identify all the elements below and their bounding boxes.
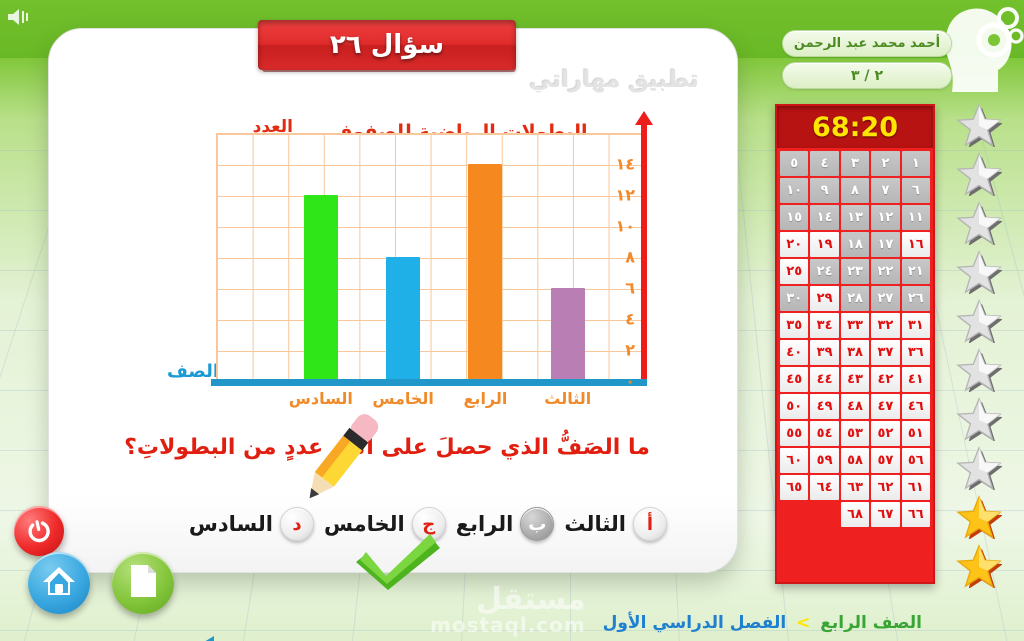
question-nav-cell[interactable]: ٦٧ [871,502,899,527]
star-gold-icon [956,495,1002,539]
question-nav-cell[interactable]: ٦٣ [841,475,869,500]
bar-chart: البطولات الرياضية للصفوف العدد الصف ٠٢٤٦… [159,117,719,417]
star-silver-icon [956,152,1002,196]
chart-bar [551,288,585,381]
speaker-mute-icon[interactable] [6,6,32,28]
star-slot [948,492,1010,541]
app-subtitle: تطبيق مهاراتي [529,67,699,93]
chart-y-tick-label: ٠ [625,372,635,391]
chart-x-axis-line [211,379,647,386]
option-label: السادس [189,512,273,536]
answer-option[interactable]: بالرابع [456,507,555,541]
question-nav-cell[interactable]: ٦ [902,178,930,203]
chart-y-tick-label: ١٤ [615,155,635,174]
question-navigator: 68:20 ١٢٣٤٥٦٧٨٩١٠١١١٢١٣١٤١٥١٦١٧١٨١٩٢٠٢١٢… [775,104,935,584]
question-nav-cell[interactable]: ٦٨ [841,502,869,527]
question-nav-cell[interactable]: ٤٢ [871,367,899,392]
question-nav-cell[interactable]: ٥٤ [810,421,838,446]
question-number-grid: ١٢٣٤٥٦٧٨٩١٠١١١٢١٣١٤١٥١٦١٧١٨١٩٢٠٢١٢٢٢٣٢٤٢… [777,148,933,530]
question-nav-cell[interactable]: ٢١ [902,259,930,284]
question-nav-cell-empty [780,502,808,527]
question-nav-cell[interactable]: ٣٤ [810,313,838,338]
star-slot [948,100,1010,149]
question-nav-cell[interactable]: ١١ [902,205,930,230]
question-number-label: سؤال ٢٦ [330,30,444,60]
star-silver-icon [956,299,1002,343]
chart-y-tick-label: ٨ [625,248,635,267]
question-nav-cell[interactable]: ٢٢ [871,259,899,284]
option-badge[interactable]: أ [633,507,667,541]
breadcrumb[interactable]: الصف الرابع > الفصل الدراسي الأول [603,613,922,633]
question-nav-cell[interactable]: ٥٨ [841,448,869,473]
star-slot [948,247,1010,296]
question-nav-cell[interactable]: ٤٧ [871,394,899,419]
chart-plot-area [216,133,644,381]
question-nav-cell[interactable]: ٥٣ [841,421,869,446]
chart-y-tick-label: ١٢ [615,186,635,205]
star-silver-icon [956,201,1002,245]
question-nav-cell[interactable]: ٣٨ [841,340,869,365]
question-nav-cell[interactable]: ١٣ [841,205,869,230]
star-gold-icon [956,544,1002,588]
question-nav-cell[interactable]: ١٧ [871,232,899,257]
student-score: ٢ / ٣ [782,62,952,89]
chart-y-axis-arrow [635,111,653,125]
chart-category-label: السادس [289,389,353,408]
question-nav-cell[interactable]: ٥ [780,151,808,176]
question-nav-cell[interactable]: ٣٠ [780,286,808,311]
question-nav-cell[interactable]: ٣ [841,151,869,176]
document-button[interactable] [112,552,174,614]
chart-category-label: الثالث [544,389,591,408]
star-slot [948,394,1010,443]
breadcrumb-term[interactable]: الفصل الدراسي الأول [603,613,787,633]
answer-option[interactable]: دالسادس [189,507,314,541]
question-nav-cell[interactable]: ٦٦ [902,502,930,527]
question-nav-cell[interactable]: ٢٨ [841,286,869,311]
question-nav-cell[interactable]: ١٨ [841,232,869,257]
question-nav-cell-empty [810,502,838,527]
question-nav-cell[interactable]: ٤٩ [810,394,838,419]
chart-category-label: الرابع [464,389,508,408]
question-nav-cell[interactable]: ١ [902,151,930,176]
question-nav-cell[interactable]: ٦٢ [871,475,899,500]
question-nav-cell[interactable]: ١٢ [871,205,899,230]
star-slot [948,198,1010,247]
star-silver-icon [956,397,1002,441]
star-slot [948,345,1010,394]
timer-display: 68:20 [777,106,933,148]
question-nav-cell[interactable]: ٥٢ [871,421,899,446]
watermark-arabic: مستقل [476,582,586,617]
star-silver-icon [956,348,1002,392]
question-nav-cell[interactable]: ٤٣ [841,367,869,392]
document-icon [128,564,158,602]
answer-option[interactable]: أالثالث [564,507,667,541]
question-nav-cell[interactable]: ٥٧ [871,448,899,473]
watermark-domain: mostaql.com [430,613,586,637]
question-nav-cell[interactable]: ٦٥ [780,475,808,500]
breadcrumb-separator: > [796,613,810,633]
question-nav-cell[interactable]: ٥٥ [780,421,808,446]
question-nav-cell[interactable]: ٥٦ [902,448,930,473]
watermark: مستقل mostaql.com [430,582,586,637]
question-nav-cell[interactable]: ٣٩ [810,340,838,365]
star-slot [948,541,1010,590]
option-label: الخامس [324,512,405,536]
star-silver-icon [956,103,1002,147]
student-info: أحمد محمد عبد الرحمن ٢ / ٣ [782,30,952,94]
question-nav-cell[interactable]: ٥٩ [810,448,838,473]
chart-y-tick-label: ١٠ [615,217,635,236]
question-nav-cell[interactable]: ٣٥ [780,313,808,338]
question-nav-cell[interactable]: ٩ [810,178,838,203]
question-banner: سؤال ٢٦ [258,20,520,72]
question-nav-cell[interactable]: ٤ [810,151,838,176]
star-slot [948,296,1010,345]
option-label: الثالث [564,512,626,536]
question-nav-cell[interactable]: ٢٦ [902,286,930,311]
question-nav-cell[interactable]: ٤١ [902,367,930,392]
home-icon [42,565,76,601]
question-nav-cell[interactable]: ٢ [871,151,899,176]
question-nav-cell[interactable]: ٣١ [902,313,930,338]
option-badge[interactable]: د [280,507,314,541]
confirm-answer-button[interactable] [352,534,444,590]
question-nav-cell[interactable]: ٧ [871,178,899,203]
question-nav-cell[interactable]: ١٤ [810,205,838,230]
chart-bar [304,195,338,381]
question-text: ما الصَفُّ الذي حصلَ على أكبرِ عددٍ من ا… [97,435,677,460]
option-badge[interactable]: ب [520,507,554,541]
question-nav-cell[interactable]: ٣٢ [871,313,899,338]
question-nav-cell[interactable]: ١٦ [902,232,930,257]
chart-y-axis-line [641,123,647,385]
question-nav-cell[interactable]: ٤٤ [810,367,838,392]
question-nav-cell[interactable]: ٦٠ [780,448,808,473]
main-content-panel: تطبيق مهاراتي البطولات الرياضية للصفوف ا… [48,28,738,573]
question-nav-cell[interactable]: ٢٧ [871,286,899,311]
question-nav-cell[interactable]: ٥١ [902,421,930,446]
chart-x-axis-arrow [199,636,214,641]
question-nav-cell[interactable]: ٤٦ [902,394,930,419]
stars-column [948,100,1010,590]
chart-bar [386,257,420,381]
question-nav-cell[interactable]: ٣٧ [871,340,899,365]
question-nav-cell[interactable]: ٨ [841,178,869,203]
home-button[interactable] [28,552,90,614]
question-nav-cell[interactable]: ٢٣ [841,259,869,284]
question-nav-cell[interactable]: ١٩ [810,232,838,257]
breadcrumb-grade[interactable]: الصف الرابع [820,613,922,633]
chart-y-tick-label: ٢ [625,341,635,360]
option-label: الرابع [456,512,514,536]
question-nav-cell[interactable]: ٢٥ [780,259,808,284]
question-nav-cell[interactable]: ١٠ [780,178,808,203]
question-nav-cell[interactable]: ٢٩ [810,286,838,311]
chart-bar [468,164,502,381]
timer-value: 68:20 [812,112,898,143]
question-nav-cell[interactable]: ٥٠ [780,394,808,419]
question-nav-cell[interactable]: ٦٤ [810,475,838,500]
chart-category-label: الخامس [372,389,434,408]
question-nav-cell[interactable]: ٤٠ [780,340,808,365]
question-nav-cell[interactable]: ٣٣ [841,313,869,338]
question-nav-cell[interactable]: ٤٥ [780,367,808,392]
star-slot [948,443,1010,492]
star-silver-icon [956,446,1002,490]
question-nav-cell[interactable]: ٢٠ [780,232,808,257]
chart-y-tick-label: ٤ [625,310,635,329]
question-nav-cell[interactable]: ٢٤ [810,259,838,284]
question-banner-plate: سؤال ٢٦ [258,20,516,70]
question-nav-cell[interactable]: ١٥ [780,205,808,230]
student-name: أحمد محمد عبد الرحمن [782,30,952,57]
chart-y-tick-label: ٦ [625,279,635,298]
star-silver-icon [956,250,1002,294]
star-slot [948,149,1010,198]
question-nav-cell[interactable]: ٦١ [902,475,930,500]
question-nav-cell[interactable]: ٤٨ [841,394,869,419]
question-nav-cell[interactable]: ٣٦ [902,340,930,365]
